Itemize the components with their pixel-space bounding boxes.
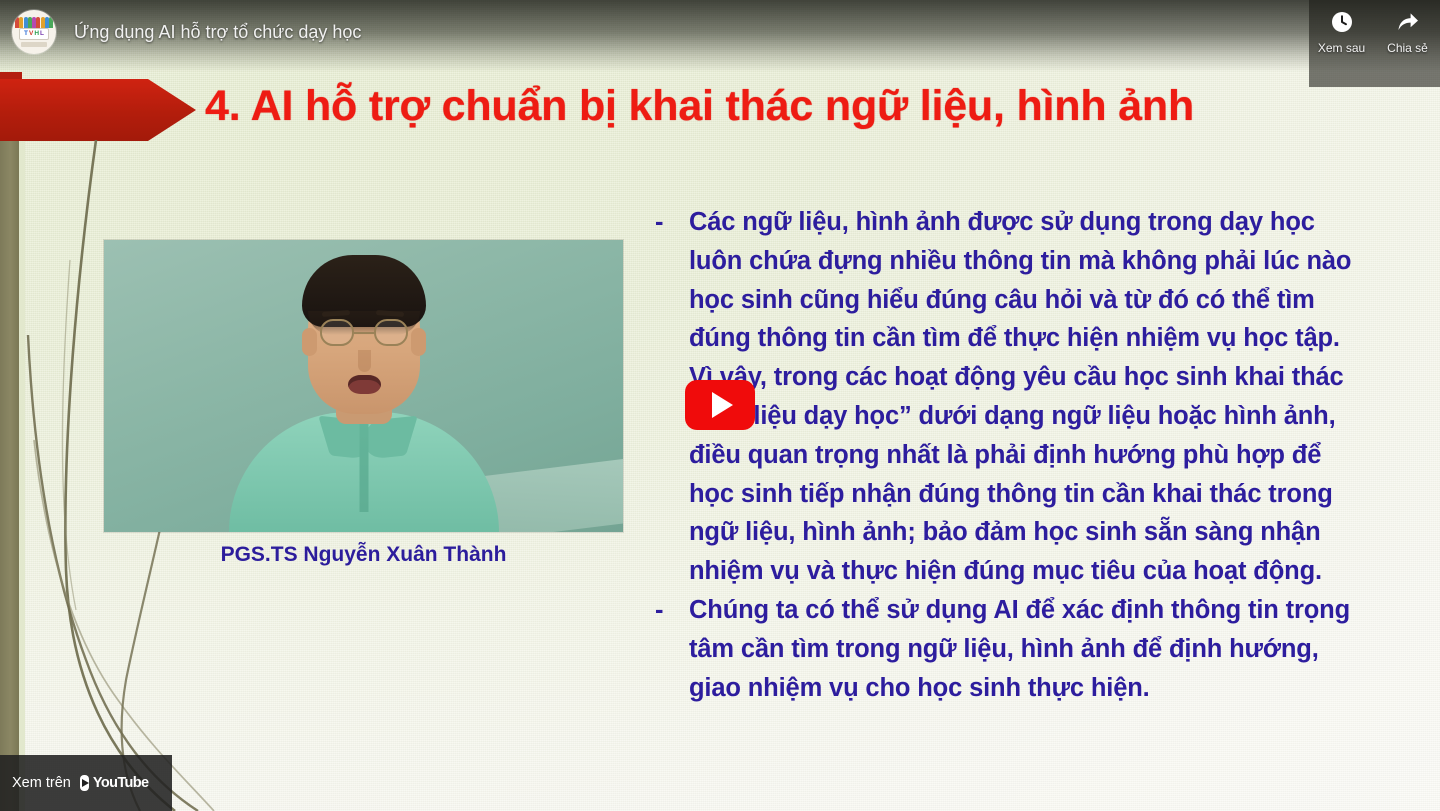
- avatar-letter: L: [40, 31, 44, 38]
- bullet-marker: -: [655, 591, 689, 630]
- share-button[interactable]: Chia sẻ: [1378, 10, 1438, 55]
- bullet-item-2: - Chúng ta có thể sử dụng AI để xác định…: [655, 591, 1367, 707]
- avatar-letter: T: [24, 31, 28, 38]
- shirt-placket: [359, 416, 368, 512]
- channel-avatar[interactable]: T V H L: [12, 10, 56, 54]
- speaker-ear-right: [411, 328, 426, 356]
- avatar-base: [21, 42, 47, 47]
- eyeglasses-lens-right: [374, 319, 408, 346]
- bullet-text: Các ngữ liệu, hình ảnh được sử dụng tron…: [689, 203, 1367, 591]
- video-player-stage: 4. AI hỗ trợ chuẩn bị khai thác ngữ liệu…: [0, 0, 1440, 811]
- youtube-logo-icon: YouTube: [80, 775, 134, 791]
- play-icon: [712, 392, 733, 418]
- bullet-item-1: - Các ngữ liệu, hình ảnh được sử dụng tr…: [655, 203, 1367, 591]
- speaker-video-frame: [104, 240, 623, 532]
- watch-later-button[interactable]: Xem sau: [1312, 10, 1372, 55]
- share-arrow-icon: [1396, 10, 1420, 34]
- eyeglasses-bridge: [354, 332, 374, 335]
- speaker-caption: PGS.TS Nguyễn Xuân Thành: [104, 543, 623, 567]
- youtube-wordmark: YouTube: [93, 775, 149, 791]
- watch-later-label: Xem sau: [1318, 41, 1365, 55]
- share-label: Chia sẻ: [1387, 41, 1428, 55]
- watch-on-label: Xem trên: [12, 775, 71, 791]
- avatar-letter: V: [29, 31, 33, 38]
- speaker-hair: [302, 255, 426, 327]
- play-button[interactable]: [685, 380, 755, 430]
- avatar-board: T V H L: [19, 28, 49, 40]
- avatar-letter: H: [34, 31, 39, 38]
- bullet-marker: -: [655, 203, 689, 242]
- player-actions-panel: Xem sau Chia sẻ: [1309, 0, 1440, 87]
- clock-icon: [1330, 10, 1354, 34]
- watch-on-youtube-button[interactable]: Xem trên YouTube: [0, 755, 172, 811]
- eyeglasses-lens-left: [320, 319, 354, 346]
- slide-body-text: - Các ngữ liệu, hình ảnh được sử dụng tr…: [655, 203, 1367, 707]
- player-header: T V H L Ứng dụng AI hỗ trợ tổ chức dạy h…: [0, 0, 1440, 64]
- bullet-text: Chúng ta có thể sử dụng AI để xác định t…: [689, 591, 1367, 707]
- speaker-torso: [229, 412, 499, 532]
- speaker-nose: [358, 350, 371, 372]
- channel-title[interactable]: Ứng dụng AI hỗ trợ tổ chức dạy học: [74, 22, 361, 43]
- speaker-ear-left: [302, 328, 317, 356]
- speaker-mouth: [348, 375, 381, 394]
- slide-title: 4. AI hỗ trợ chuẩn bị khai thác ngữ liệu…: [205, 82, 1295, 131]
